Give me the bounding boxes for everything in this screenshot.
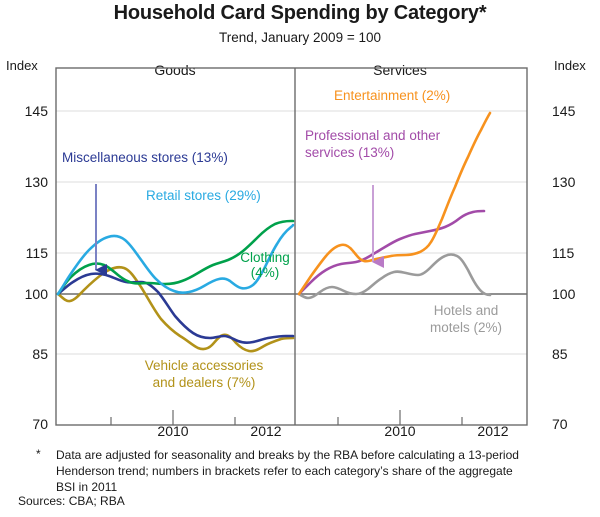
series-label-professional-services: Professional and other services (13%) (305, 127, 440, 161)
series-line-hotels-motels (299, 255, 490, 299)
series-label-vehicle-accessories: Vehicle accessories and dealers (7%) (114, 357, 294, 391)
series-label-clothing-share: (4%) (251, 265, 280, 280)
footnote-marker: * (36, 447, 41, 461)
footnote-text: Data are adjusted for seasonality and br… (56, 447, 526, 495)
series-label-vehicle-line1: Vehicle accessories (145, 358, 264, 373)
series-label-hotels-motels: Hotels and motels (2%) (411, 302, 521, 336)
x-axis-ticks (111, 410, 462, 425)
series-label-clothing: Clothing (4%) (225, 250, 305, 280)
series-label-miscellaneous-stores: Miscellaneous stores (13%) (62, 150, 228, 165)
series-label-hotels-line1: Hotels and (434, 303, 499, 318)
series-label-hotels-line2: motels (2%) (430, 320, 502, 335)
series-label-retail-stores: Retail stores (29%) (146, 188, 261, 203)
footnote-sources: Sources: CBA; RBA (18, 494, 125, 508)
chart-container: Household Card Spending by Category* Tre… (0, 0, 600, 517)
series-label-professional-line2: services (13%) (305, 145, 394, 160)
series-label-clothing-name: Clothing (240, 250, 290, 265)
series-label-professional-line1: Professional and other (305, 128, 440, 143)
series-label-entertainment: Entertainment (2%) (334, 88, 450, 103)
series-label-vehicle-line2: and dealers (7%) (153, 375, 256, 390)
